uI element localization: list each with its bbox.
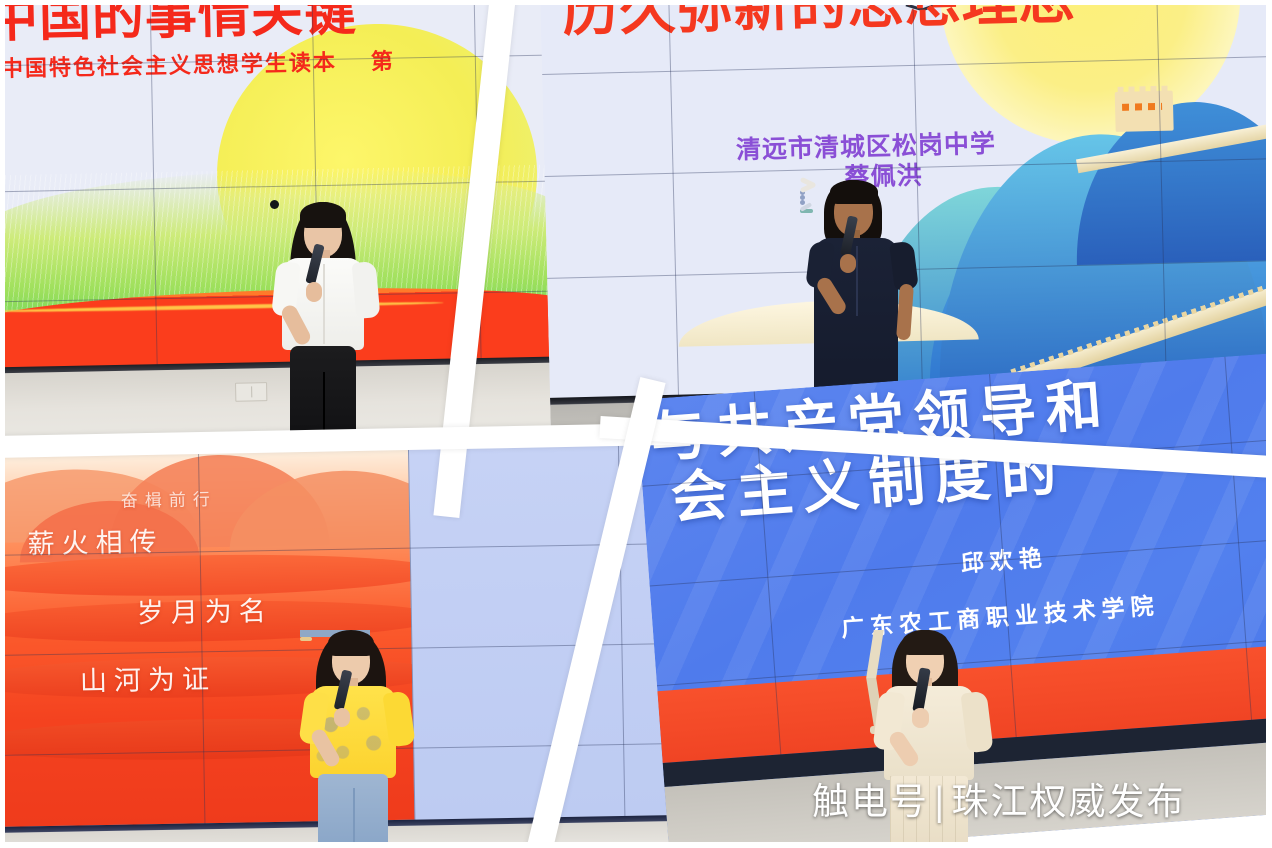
hand	[334, 708, 350, 727]
hair-top	[830, 180, 878, 204]
poster-line-2: 薪火相传	[27, 520, 164, 561]
watermark-publisher: 珠江权威发布	[951, 780, 1185, 823]
poster-line-3: 岁月为名	[136, 589, 273, 630]
watermark: 触电号|珠江权威发布	[812, 780, 1185, 824]
hair-top	[300, 202, 346, 228]
hand	[840, 254, 856, 273]
watermark-channel: 触电号	[812, 780, 929, 823]
wall-socket	[235, 382, 267, 402]
slide-subtitle-extra: 第	[371, 49, 395, 74]
poster-line-1: 奋楫前行	[121, 485, 217, 512]
frame-bottom	[0, 842, 1272, 848]
hand	[306, 282, 322, 302]
right-sleeve	[352, 261, 381, 319]
hair-top	[328, 630, 374, 656]
denim-jeans	[318, 774, 388, 848]
slide-school-top-right: 清远市清城区松岗中学	[736, 129, 997, 165]
frame-top	[0, 0, 1272, 5]
speaker-yellow-floral-blouse	[300, 630, 410, 848]
watermark-separator: |	[933, 780, 947, 823]
photo-collage: 中国的事情关键 代中国特色社会主义思想学生读本第	[0, 0, 1272, 848]
frame-right	[1266, 0, 1272, 848]
speaker-white-shirt	[270, 200, 380, 450]
frame-left	[0, 0, 5, 848]
poster-line-4: 山河为证	[80, 657, 217, 698]
bracelet	[300, 637, 312, 641]
slide-presenter-bottom-right: 邱欢艳	[959, 538, 1048, 578]
hair-top	[902, 630, 948, 655]
great-wall-tower-graphic	[1115, 91, 1174, 132]
wristwatch	[270, 200, 279, 209]
hand	[912, 708, 929, 728]
right-arm	[896, 284, 914, 341]
